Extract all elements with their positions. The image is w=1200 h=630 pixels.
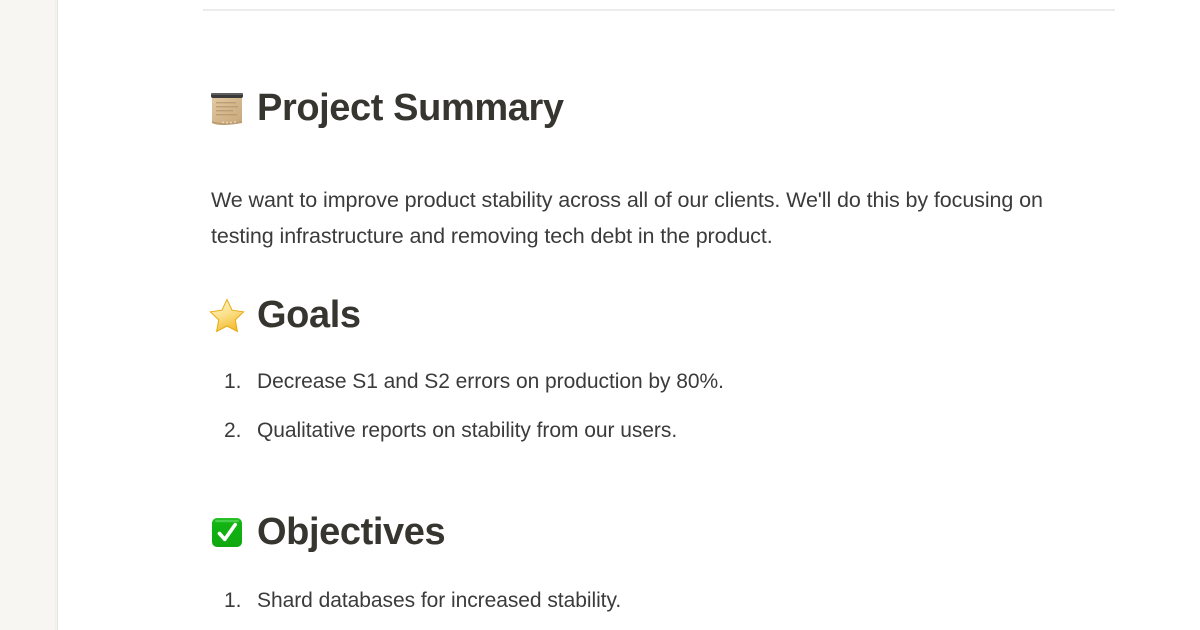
list-item: 1. Shard databases for increased stabili… — [211, 587, 621, 615]
heading-label: Project Summary — [257, 89, 564, 127]
list-item: 2. Qualitative reports on stability from… — [211, 417, 724, 445]
goals-list: 1. Decrease S1 and S2 errors on producti… — [211, 368, 724, 466]
sidebar-rail[interactable] — [0, 0, 58, 630]
heading-project-summary: Project Summary — [207, 88, 564, 128]
objectives-list: 1. Shard databases for increased stabili… — [211, 587, 621, 630]
heading-label: Goals — [257, 296, 361, 334]
list-item: 1. Decrease S1 and S2 errors on producti… — [211, 368, 724, 396]
heading-label: Objectives — [257, 513, 445, 551]
top-divider-rule — [203, 9, 1115, 11]
list-marker: 1. — [224, 368, 257, 396]
white-check-mark-icon — [207, 512, 247, 552]
document-window: Project Summary We want to improve produ… — [0, 0, 1200, 630]
list-marker: 1. — [224, 587, 257, 615]
scroll-icon — [207, 88, 247, 128]
list-marker: 2. — [224, 417, 257, 445]
list-item-text: Shard databases for increased stability. — [257, 587, 621, 615]
heading-objectives: Objectives — [207, 512, 445, 552]
summary-paragraph: We want to improve product stability acr… — [211, 182, 1071, 254]
heading-goals: Goals — [207, 295, 361, 335]
list-item-text: Decrease S1 and S2 errors on production … — [257, 368, 724, 396]
document-pane[interactable]: Project Summary We want to improve produ… — [58, 0, 1200, 630]
list-item-text: Qualitative reports on stability from ou… — [257, 417, 724, 445]
star-icon — [207, 295, 247, 335]
